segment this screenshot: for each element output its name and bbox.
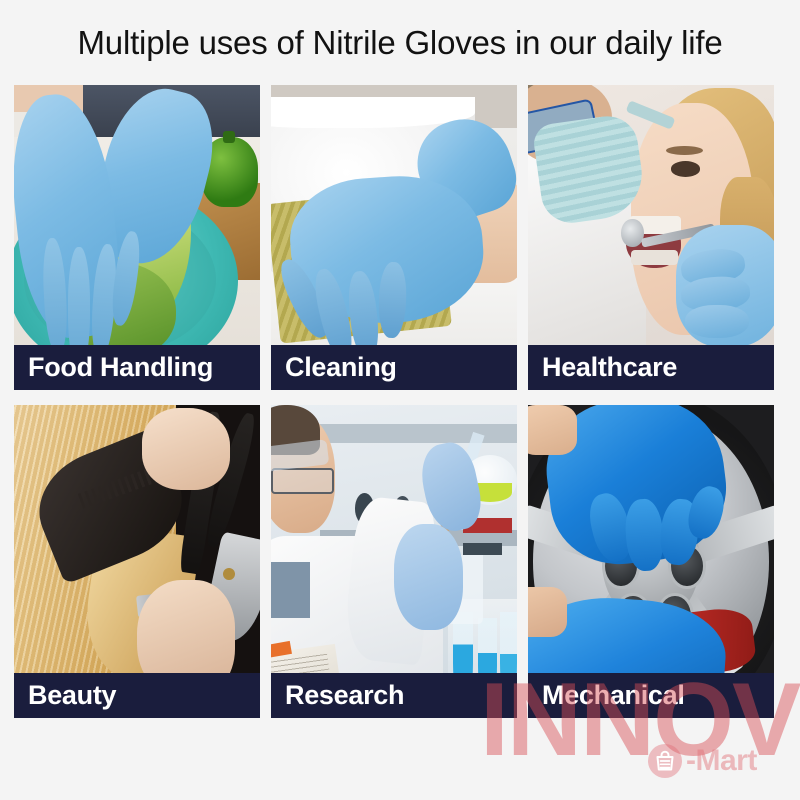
page-title: Multiple uses of Nitrile Gloves in our d… [0,0,800,85]
cell-label-beauty: Beauty [14,673,260,718]
cell-label-healthcare: Healthcare [528,345,774,390]
grid-cell-food-handling[interactable]: Food Handling [14,85,260,390]
grid-cell-healthcare[interactable]: Healthcare [528,85,774,390]
grid-cell-cleaning[interactable]: Cleaning [271,85,517,390]
shopping-bag-icon [648,744,682,778]
watermark-emart: -Mart [648,744,757,778]
photo-research [271,405,517,718]
photo-mechanical [528,405,774,718]
grid-cell-research[interactable]: Research [271,405,517,718]
grid-cell-mechanical[interactable]: Mechanical [528,405,774,718]
watermark-emart-text: -Mart [686,744,757,778]
uses-grid: Food Handling Cleaning [14,85,773,718]
photo-beauty [14,405,260,718]
cell-label-research: Research [271,673,517,718]
page-root: Multiple uses of Nitrile Gloves in our d… [0,0,800,800]
cell-label-mechanical: Mechanical [528,673,774,718]
grid-cell-beauty[interactable]: Beauty [14,405,260,718]
cell-label-cleaning: Cleaning [271,345,517,390]
cell-label-food-handling: Food Handling [14,345,260,390]
